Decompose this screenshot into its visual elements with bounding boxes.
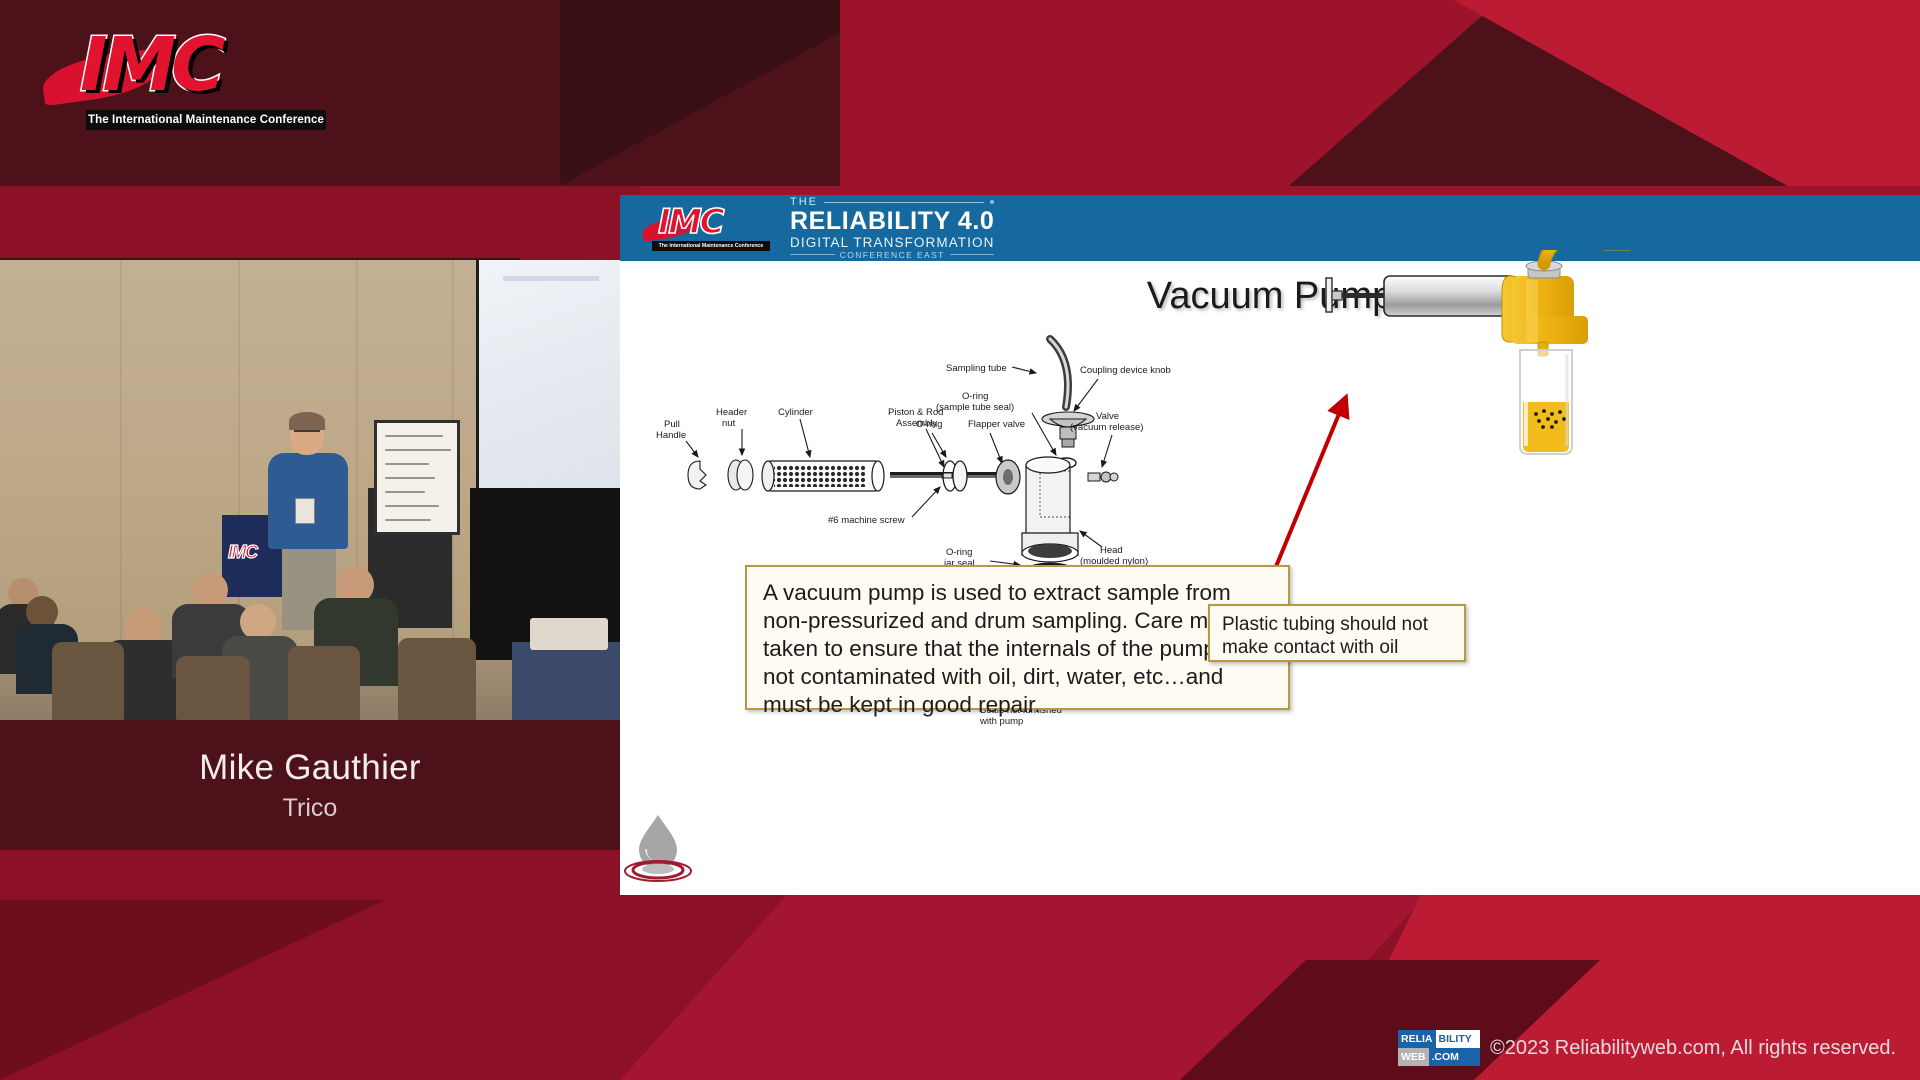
- presenter-hair: [289, 412, 325, 430]
- svg-text:Coupling device knob: Coupling device knob: [1080, 365, 1171, 376]
- flipchart-line: [385, 505, 439, 507]
- flipchart-line: [385, 491, 425, 493]
- slide-banner: IMC The International Maintenance Confer…: [620, 195, 1920, 261]
- slide-title: Vacuum Pump: [620, 275, 1920, 318]
- flipchart-line: [385, 449, 451, 451]
- svg-text:Cylinder: Cylinder: [778, 407, 813, 418]
- logo-relia: RELIA: [1398, 1030, 1436, 1048]
- audience-chair: [176, 656, 250, 720]
- banner-rule: [950, 254, 995, 255]
- imc-wordmark: IMC: [80, 28, 220, 102]
- flipchart-line: [385, 477, 435, 479]
- banner-text-block: THE RELIABILITY 4.0 DIGITAL TRANSFORMATI…: [790, 196, 994, 259]
- banner-subtitle: DIGITAL TRANSFORMATION: [790, 235, 994, 250]
- logo-bility: BILITY: [1436, 1030, 1481, 1048]
- side-table: [512, 642, 620, 720]
- presenter-glasses: [294, 430, 320, 435]
- slide-body-text: A vacuum pump is used to extract sample …: [763, 579, 1272, 718]
- svg-text:Valve: Valve: [1096, 411, 1119, 422]
- svg-text:Flapper valve: Flapper valve: [968, 419, 1025, 430]
- copyright-text: ©2023 Reliabilityweb.com, All rights res…: [1490, 1037, 1896, 1060]
- svg-text:Head: Head: [1100, 545, 1123, 556]
- audience-chair: [52, 642, 124, 720]
- slide-callout-textbox: Plastic tubing should not make contact w…: [1208, 604, 1466, 662]
- logo-dotcom: .COM: [1429, 1048, 1481, 1066]
- svg-text:#6 machine screw: #6 machine screw: [828, 515, 905, 526]
- flipchart-line: [385, 519, 431, 521]
- banner-imc-wordmark: IMC: [658, 205, 722, 239]
- audience-head: [240, 604, 276, 640]
- svg-text:nut: nut: [722, 418, 736, 429]
- flipchart-line: [385, 435, 443, 437]
- banner-rule: [790, 254, 835, 255]
- audience-head: [192, 572, 228, 608]
- banner-dot: [990, 200, 994, 204]
- banner-subtitle2: CONFERENCE EAST: [840, 250, 945, 260]
- wall-seam: [120, 260, 122, 640]
- banner-subtitle2-row: CONFERENCE EAST: [790, 250, 994, 260]
- projector-device: [530, 618, 608, 650]
- presentation-slide[interactable]: IMC The International Maintenance Confer…: [620, 195, 1920, 895]
- svg-text:Header: Header: [716, 407, 747, 418]
- svg-text:(sample tube seal): (sample tube seal): [936, 402, 1014, 413]
- bg-mid-strip-dark: [0, 186, 640, 258]
- logo-row-bottom: WEB .COM: [1398, 1048, 1480, 1066]
- slide-callout-text: Plastic tubing should not make contact w…: [1222, 613, 1452, 659]
- svg-text:O-ring: O-ring: [916, 419, 942, 430]
- flipchart-paper: [374, 420, 460, 535]
- banner-rule: [824, 202, 984, 203]
- reliabilityweb-logo: RELIA BILITY WEB .COM: [1398, 1030, 1480, 1066]
- imc-tagline: The International Maintenance Conference: [86, 110, 326, 130]
- speaker-organization: Trico: [283, 794, 338, 823]
- svg-text:O-ring: O-ring: [946, 547, 972, 558]
- logo-row-top: RELIA BILITY: [1398, 1030, 1480, 1048]
- speaker-name-plate: Mike Gauthier Trico: [0, 720, 620, 850]
- projection-screen: [476, 260, 620, 492]
- presenter-badge: [295, 498, 315, 524]
- speaker-name: Mike Gauthier: [199, 748, 421, 788]
- speaker-video-feed[interactable]: IMC: [0, 260, 620, 720]
- oil-droplet-logo-icon: [620, 807, 699, 885]
- screen-content-line: [503, 276, 599, 281]
- banner-imc-tagline: The International Maintenance Conference: [652, 241, 770, 251]
- audience-chair: [288, 646, 360, 720]
- svg-text:O-ring: O-ring: [962, 391, 988, 402]
- footer-bar: RELIA BILITY WEB .COM ©2023 Reliabilityw…: [1398, 1028, 1896, 1068]
- banner-imc-logo: IMC The International Maintenance Confer…: [642, 203, 772, 253]
- svg-text:Handle: Handle: [656, 430, 686, 441]
- imc-logo: IMC The International Maintenance Confer…: [42, 22, 330, 132]
- svg-text:Sampling tube: Sampling tube: [946, 363, 1007, 374]
- svg-text:(vacuum release): (vacuum release): [1070, 422, 1143, 433]
- flipchart-line: [385, 463, 429, 465]
- logo-web: WEB: [1398, 1048, 1429, 1066]
- audience-chair: [398, 638, 476, 720]
- svg-text:Pull: Pull: [664, 419, 680, 430]
- banner-title: RELIABILITY 4.0: [790, 208, 994, 234]
